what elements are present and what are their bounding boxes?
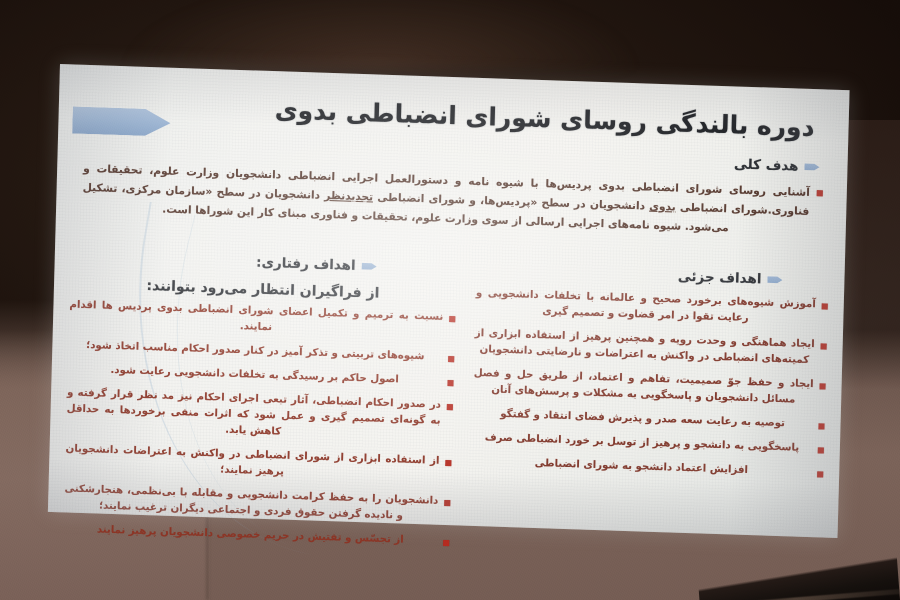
square-bullet-icon [821,343,827,349]
list-item: از استفاده ابزاری از شورای انضباطی در وا… [65,441,452,486]
behavioral-goal-item-text: در صدور احکام انضباطی، آثار تبعی اجرای ا… [66,385,441,445]
behavioral-goal-item-text: دانشجویان را به حفظ کرامت دانشجویی و مقا… [64,481,439,525]
projection-screen: دوره بالندگی روسای شورای انضباطی بدوی هد… [48,64,850,538]
square-bullet-icon [448,356,454,362]
specific-goal-item-text: افزایش اعتماد دانشجو به شورای انضباطی [471,454,811,481]
general-goal-underlined-tajdidnazar: تجدیدنظر [324,190,373,204]
specific-goal-item-text: پاسخگویی به دانشجو و پرهیز از توسل بر خو… [472,430,812,457]
general-goal-paragraph: آشنایی روسای شورای انضباطی بدوی پردیس‌ها… [82,160,810,241]
behavioral-goal-item-text: از استفاده ابزاری از شورای انضباطی در وا… [65,441,440,485]
behavioral-goal-item-text: شیوه‌های تربیتی و تذکر آمیز در کنار صدور… [68,337,442,365]
square-bullet-icon [818,447,824,453]
specific-goal-item-text: ایجاد هماهنگی و وحدت رویه و همچنین پرهیز… [474,326,815,369]
list-item: ایجاد هماهنگی و وحدت رویه و همچنین پرهیز… [474,326,827,370]
square-bullet-icon [447,380,453,386]
specific-goals-list: آموزش شیوه‌های برخورد صحیح و عالمانه با … [471,286,828,482]
behavioral-goals-subheading: از فراگیران انتظار می‌رود بتوانند: [104,277,422,304]
behavioral-goals-heading: اهداف رفتاری: [71,246,457,279]
specific-goal-item-text: توصیه به رعایت سعه صدر و پذیرش فضای انتق… [472,406,812,433]
arrow-bullet-icon [362,262,377,271]
square-bullet-icon [817,471,823,477]
list-item: اصول حاکم بر رسیدگی به تخلفات دانشجویی ر… [68,361,454,390]
square-bullet-icon [447,404,453,410]
specific-goal-item-text: ایجاد و حفظ جوّ صمیمیت، تفاهم و اعتماد، … [473,366,814,409]
square-bullet-icon [819,383,825,389]
list-item: نسبت به ترمیم و تکمیل اعضای شورای انضباط… [69,297,456,342]
general-goal-text-part-2: دانشجویان در سطح «پردیس‌ها، و شورای انضب… [373,191,650,212]
behavioral-goal-item-text: نسبت به ترمیم و تکمیل اعضای شورای انضباط… [69,297,444,341]
general-goal-heading: هدف کلی [734,156,820,175]
square-bullet-icon [449,316,455,322]
slide-surface: دوره بالندگی روسای شورای انضباطی بدوی هد… [48,64,850,538]
square-bullet-icon [817,190,823,196]
list-item: افزایش اعتماد دانشجو به شورای انضباطی [471,454,823,482]
general-goal-block: آشنایی روسای شورای انضباطی بدوی پردیس‌ها… [82,160,823,242]
behavioral-goals-column: اهداف رفتاری: از فراگیران انتظار می‌رود … [64,246,457,517]
arrow-bullet-icon [804,162,819,171]
list-item: دانشجویان را به حفظ کرامت دانشجویی و مقا… [64,481,451,526]
specific-goal-item-text: آموزش شیوه‌های برخورد صحیح و عالمانه با … [475,286,816,329]
general-goal-heading-label: هدف کلی [734,156,799,174]
slide-title-row: دوره بالندگی روسای شورای انضباطی بدوی [58,80,849,152]
behavioral-goal-item-text: اصول حاکم بر رسیدگی به تخلفات دانشجویی ر… [68,361,442,389]
square-bullet-icon [443,540,449,546]
general-goal-underlined-badavi: بدوی [649,201,676,214]
specific-goals-column: اهداف جزئی آموزش شیوه‌های برخورد صحیح و … [470,260,829,530]
square-bullet-icon [822,303,828,309]
list-item: شیوه‌های تربیتی و تذکر آمیز در کنار صدور… [68,337,454,366]
square-bullet-icon [445,460,451,466]
specific-goals-heading-label: اهداف جزئی [678,269,762,288]
list-item: آموزش شیوه‌های برخورد صحیح و عالمانه با … [475,286,828,330]
behavioral-goals-list: نسبت به ترمیم و تکمیل اعضای شورای انضباط… [63,297,455,550]
behavioral-goals-heading-label: اهداف رفتاری: [256,255,356,274]
ceiling-light-glow [120,0,640,70]
list-item: ایجاد و حفظ جوّ صمیمیت، تفاهم و اعتماد، … [473,366,826,410]
projected-slide-photograph: دوره بالندگی روسای شورای انضباطی بدوی هد… [0,0,900,600]
list-item: پاسخگویی به دانشجو و پرهیز از توسل بر خو… [472,430,824,458]
list-item: در صدور احکام انضباطی، آثار تبعی اجرای ا… [66,385,453,446]
page-title: دوره بالندگی روسای شورای انضباطی بدوی [258,93,831,146]
list-item: توصیه به رعایت سعه صدر و پذیرش فضای انتق… [472,406,824,434]
arrow-bullet-icon [767,275,782,284]
square-bullet-icon [818,423,824,429]
square-bullet-icon [444,500,450,506]
